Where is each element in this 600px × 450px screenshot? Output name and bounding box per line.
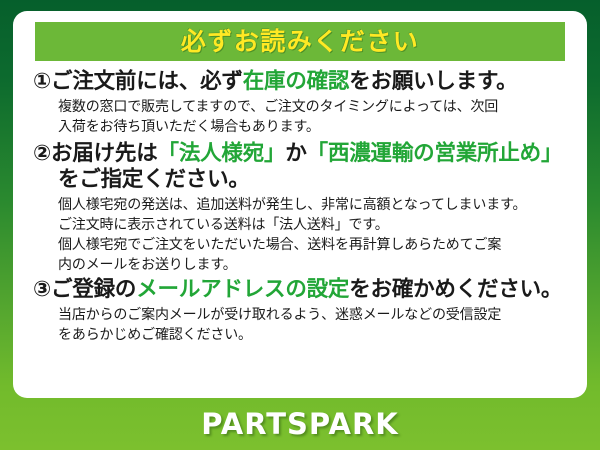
notice-panel: 必ずお読みください ①ご注文前には、必ず在庫の確認をお願いします。 複数の窓口で… (13, 11, 587, 398)
list-marker-2: ② (33, 141, 51, 166)
heading-text-middle: か (285, 141, 306, 166)
heading-text-after: をお願いします。 (349, 69, 517, 94)
heading-text-before: ご注文前には、必ず (51, 69, 243, 94)
body-line: 複数の窓口で販売してますので、ご注文のタイミングによっては、次回 (58, 97, 572, 117)
notice-banner: 必ずお読みください ①ご注文前には、必ず在庫の確認をお願いします。 複数の窓口で… (0, 0, 600, 450)
notice-header-bar: 必ずお読みください (35, 22, 565, 61)
page-title: 必ずお読みください (181, 29, 420, 54)
heading-text-before: ご登録の (51, 277, 136, 302)
list-item-heading: ②お届け先は「法人様宛」か「西濃運輸の営業所止め」 (33, 142, 572, 167)
notice-footer: PARTSPARK (0, 398, 600, 450)
list-marker-1: ① (33, 69, 51, 94)
body-line: をあらかじめご確認ください。 (58, 325, 572, 345)
body-line: 当店からのご案内メールが受け取れるよう、迷惑メールなどの受信設定 (58, 305, 572, 325)
body-line: 入荷をお待ち頂いただく場合もあります。 (58, 117, 572, 137)
list-marker-3: ③ (33, 277, 51, 302)
list-item-heading: ①ご注文前には、必ず在庫の確認をお願いします。 (33, 70, 572, 95)
list-item: ②お届け先は「法人様宛」か「西濃運輸の営業所止め」 をご指定ください。 個人様宅… (33, 142, 572, 275)
heading-text-after: をお確かめください。 (349, 277, 562, 302)
list-item: ①ご注文前には、必ず在庫の確認をお願いします。 複数の窓口で販売してますので、ご… (33, 70, 572, 137)
body-line: ご注文時に表示されている送料は「法人送料」です。 (58, 215, 572, 235)
heading-highlight-2: 「西濃運輸の営業所止め」 (307, 141, 563, 166)
brand-wordmark: PARTSPARK (201, 410, 399, 439)
list-item-body: 複数の窓口で販売してますので、ご注文のタイミングによっては、次回 入荷をお待ち頂… (33, 97, 572, 137)
list-item-heading-line2: をご指定ください。 (33, 167, 572, 193)
heading-highlight: 在庫の確認 (243, 69, 350, 94)
heading-highlight: メールアドレスの設定 (136, 277, 349, 302)
body-line: 個人様宅宛の発送は、追加送料が発生し、非常に高額となってしまいます。 (58, 195, 572, 215)
list-item-body: 個人様宅宛の発送は、追加送料が発生し、非常に高額となってしまいます。 ご注文時に… (33, 195, 572, 275)
body-line: 個人様宅宛でご注文をいただいた場合、送料を再計算しあらためてご案 (58, 235, 572, 255)
list-item-body: 当店からのご案内メールが受け取れるよう、迷惑メールなどの受信設定 をあらかじめご… (33, 305, 572, 345)
heading-text-before: お届け先は (51, 141, 158, 166)
heading-highlight: 「法人様宛」 (158, 141, 286, 166)
list-item: ③ご登録のメールアドレスの設定をお確かめください。 当店からのご案内メールが受け… (33, 278, 572, 345)
body-line: 内のメールをお送りします。 (58, 255, 572, 275)
list-item-heading: ③ご登録のメールアドレスの設定をお確かめください。 (33, 278, 572, 303)
notice-list: ①ご注文前には、必ず在庫の確認をお願いします。 複数の窓口で販売してますので、ご… (26, 61, 574, 345)
